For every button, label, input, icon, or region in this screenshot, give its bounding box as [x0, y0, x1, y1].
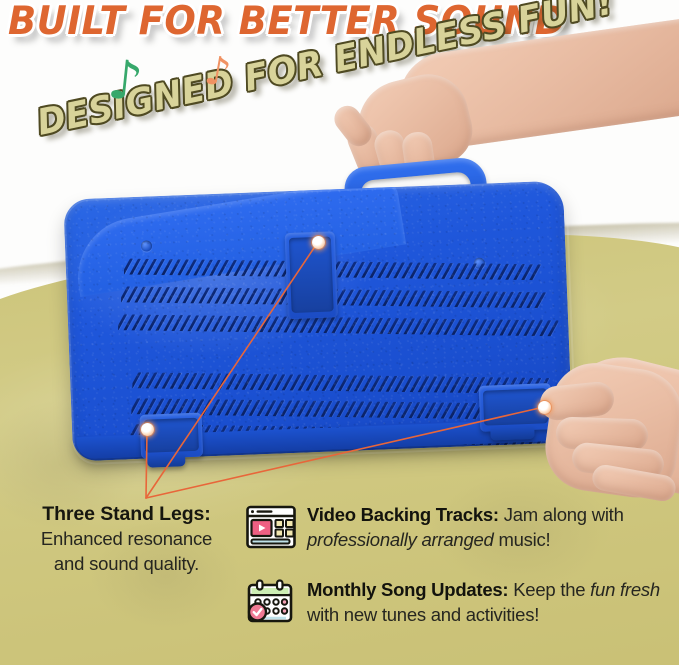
infographic-stage: BUILT FOR BETTER SOUND DESIGNED FOR ENDL…	[0, 0, 679, 665]
product-keyboard-case	[52, 160, 583, 480]
callout-dot-center	[312, 236, 325, 249]
stand-leg-center	[285, 231, 338, 319]
callout-dot-left	[141, 423, 154, 436]
stand-leg-center-inner	[289, 236, 334, 313]
case-screw-right	[474, 258, 485, 269]
feature-video-text-1: Jam along with	[499, 504, 624, 525]
feature-updates-text-2: with new tunes and activities!	[307, 604, 539, 625]
feature-video-emphasis: professionally arranged	[307, 529, 494, 550]
case-screw-left	[141, 240, 152, 251]
stand-leg-right-foot	[490, 427, 534, 441]
feature-updates-copy: Monthly Song Updates: Keep the fun fresh…	[307, 577, 676, 627]
stand-leg-left-foot	[147, 454, 185, 467]
feature-monthly-song-updates: Monthly Song Updates: Keep the fun fresh…	[246, 577, 676, 627]
feature-video-title: Video Backing Tracks:	[307, 504, 499, 525]
music-note-green-icon: ♪	[105, 52, 145, 109]
feature-left-title: Three Stand Legs:	[14, 502, 239, 526]
video-player-icon	[246, 504, 296, 550]
case-top-shoulder	[69, 180, 406, 296]
feature-updates-title: Monthly Song Updates:	[307, 579, 508, 600]
feature-three-stand-legs: Three Stand Legs: Enhanced resonance and…	[14, 502, 239, 576]
feature-video-backing-tracks: Video Backing Tracks: Jam along with pro…	[246, 502, 676, 552]
stand-leg-left-inner	[144, 418, 199, 453]
vent-row-3	[118, 314, 558, 336]
feature-video-copy: Video Backing Tracks: Jam along with pro…	[307, 502, 676, 552]
callout-dot-right	[538, 401, 551, 414]
feature-updates-text-1: Keep the	[508, 579, 590, 600]
feature-updates-emphasis: fun fresh	[590, 579, 660, 600]
feature-left-body-line1: Enhanced resonance	[14, 526, 239, 551]
feature-left-body-line2: and sound quality.	[14, 551, 239, 576]
calendar-check-icon	[246, 579, 296, 625]
feature-video-text-2: music!	[494, 529, 551, 550]
